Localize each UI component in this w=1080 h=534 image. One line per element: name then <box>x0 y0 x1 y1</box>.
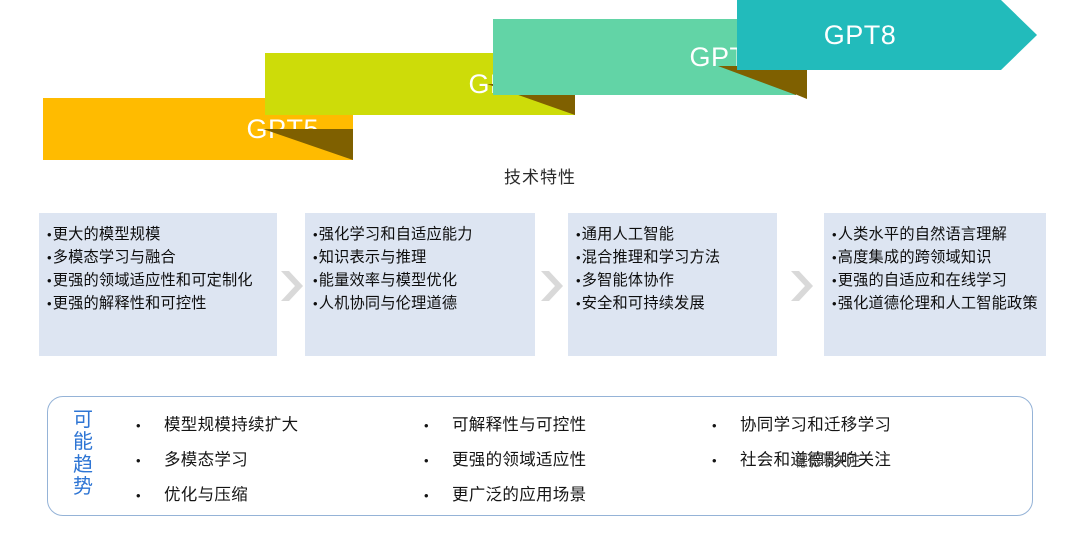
trend-item[interactable]: • 协同学习和迁移学习 <box>708 411 1008 446</box>
banner-gpt8[interactable]: GPT8 <box>737 0 1037 70</box>
feature-list-2: 强化学习和自适应能力 知识表示与推理 能量效率与模型优化 人机协同与伦理道德 <box>313 223 529 315</box>
trend-item[interactable]: • 社会和道德影响关注 德影响关注 <box>708 446 1008 481</box>
feature-box-1[interactable]: 更大的模型规模 多模态学习与融合 更强的领域适应性和可定制化 更强的解释性和可控… <box>39 213 277 356</box>
feature-item: 人机协同与伦理道德 <box>313 292 529 315</box>
feature-item: 多模态学习与融合 <box>47 246 271 269</box>
feature-item: 人类水平的自然语言理解 <box>832 223 1040 246</box>
trends-label-char: 趋 <box>70 454 96 476</box>
feature-item: 更强的解释性和可控性 <box>47 292 271 315</box>
trend-item-label-overlapped: 社会和道德影响关注 德影响关注 <box>740 446 891 470</box>
trend-bullet-icon: • <box>132 453 164 468</box>
trend-bullet-icon: • <box>708 418 740 433</box>
banner-gpt8-label: GPT8 <box>824 22 951 49</box>
trend-bullet-icon: • <box>708 453 740 468</box>
trends-label-char: 可 <box>70 409 96 431</box>
trends-panel: 可 能 趋 势 • 模型规模持续扩大 • 多模态学习 • 优化与压缩 • 可解释… <box>47 396 1033 516</box>
trend-column-1: • 模型规模持续扩大 • 多模态学习 • 优化与压缩 <box>132 411 422 516</box>
trend-item[interactable]: • 可解释性与可控性 <box>420 411 710 446</box>
feature-item: 更强的领域适应性和可定制化 <box>47 269 271 292</box>
trend-bullet-icon: • <box>132 418 164 433</box>
chevron-separator-2-icon <box>539 269 565 303</box>
feature-list-4: 人类水平的自然语言理解 高度集成的跨领域知识 更强的自适应和在线学习 强化道德伦… <box>832 223 1040 315</box>
roadmap-banner-stack: GPT5 GPT6 GPT7 GPT8 <box>0 0 1080 165</box>
trend-item-label: 优化与压缩 <box>164 481 248 505</box>
trend-item-label: 可解释性与可控性 <box>452 411 586 435</box>
banner-gpt8-body: GPT8 <box>737 0 1037 70</box>
feature-box-2[interactable]: 强化学习和自适应能力 知识表示与推理 能量效率与模型优化 人机协同与伦理道德 <box>305 213 535 356</box>
feature-item: 混合推理和学习方法 <box>576 246 771 269</box>
feature-item: 安全和可持续发展 <box>576 292 771 315</box>
trend-bullet-icon: • <box>420 453 452 468</box>
feature-box-3[interactable]: 通用人工智能 混合推理和学习方法 多智能体协作 安全和可持续发展 <box>568 213 777 356</box>
trend-item-label: 协同学习和迁移学习 <box>740 411 891 435</box>
feature-list-1: 更大的模型规模 多模态学习与融合 更强的领域适应性和可定制化 更强的解释性和可控… <box>47 223 271 315</box>
feature-item: 能量效率与模型优化 <box>313 269 529 292</box>
chevron-separator-1-icon <box>279 269 305 303</box>
trend-bullet-icon: • <box>132 488 164 503</box>
feature-item: 强化道德伦理和人工智能政策 <box>832 292 1040 315</box>
feature-boxes-row: 更大的模型规模 多模态学习与融合 更强的领域适应性和可定制化 更强的解释性和可控… <box>0 213 1080 358</box>
feature-item: 强化学习和自适应能力 <box>313 223 529 246</box>
trend-item-label: 更广泛的应用场景 <box>452 481 586 505</box>
chevron-separator-3-icon <box>789 269 815 303</box>
feature-list-3: 通用人工智能 混合推理和学习方法 多智能体协作 安全和可持续发展 <box>576 223 771 315</box>
trend-bullet-icon: • <box>420 488 452 503</box>
feature-box-4[interactable]: 人类水平的自然语言理解 高度集成的跨领域知识 更强的自适应和在线学习 强化道德伦… <box>824 213 1046 356</box>
trend-item[interactable]: • 模型规模持续扩大 <box>132 411 422 446</box>
feature-item: 高度集成的跨领域知识 <box>832 246 1040 269</box>
feature-item: 知识表示与推理 <box>313 246 529 269</box>
trend-item-label-ghost: 德影响关注 <box>795 447 861 471</box>
trend-column-3: • 协同学习和迁移学习 • 社会和道德影响关注 德影响关注 <box>708 411 1008 481</box>
trend-item[interactable]: • 多模态学习 <box>132 446 422 481</box>
trend-item-label: 模型规模持续扩大 <box>164 411 298 435</box>
trend-item-label: 多模态学习 <box>164 446 248 470</box>
trend-item[interactable]: • 更广泛的应用场景 <box>420 481 710 516</box>
feature-item: 更强的自适应和在线学习 <box>832 269 1040 292</box>
trend-bullet-icon: • <box>420 418 452 433</box>
trends-label-char: 能 <box>70 431 96 453</box>
trend-item[interactable]: • 更强的领域适应性 <box>420 446 710 481</box>
trend-column-2: • 可解释性与可控性 • 更强的领域适应性 • 更广泛的应用场景 <box>420 411 710 516</box>
feature-item: 通用人工智能 <box>576 223 771 246</box>
trends-vertical-label: 可 能 趋 势 <box>70 409 96 499</box>
trends-label-char: 势 <box>70 476 96 498</box>
feature-item: 多智能体协作 <box>576 269 771 292</box>
trend-item-label: 更强的领域适应性 <box>452 446 586 470</box>
feature-item: 更大的模型规模 <box>47 223 271 246</box>
trend-item[interactable]: • 优化与压缩 <box>132 481 422 516</box>
features-section-title: 技术特性 <box>0 163 1080 188</box>
